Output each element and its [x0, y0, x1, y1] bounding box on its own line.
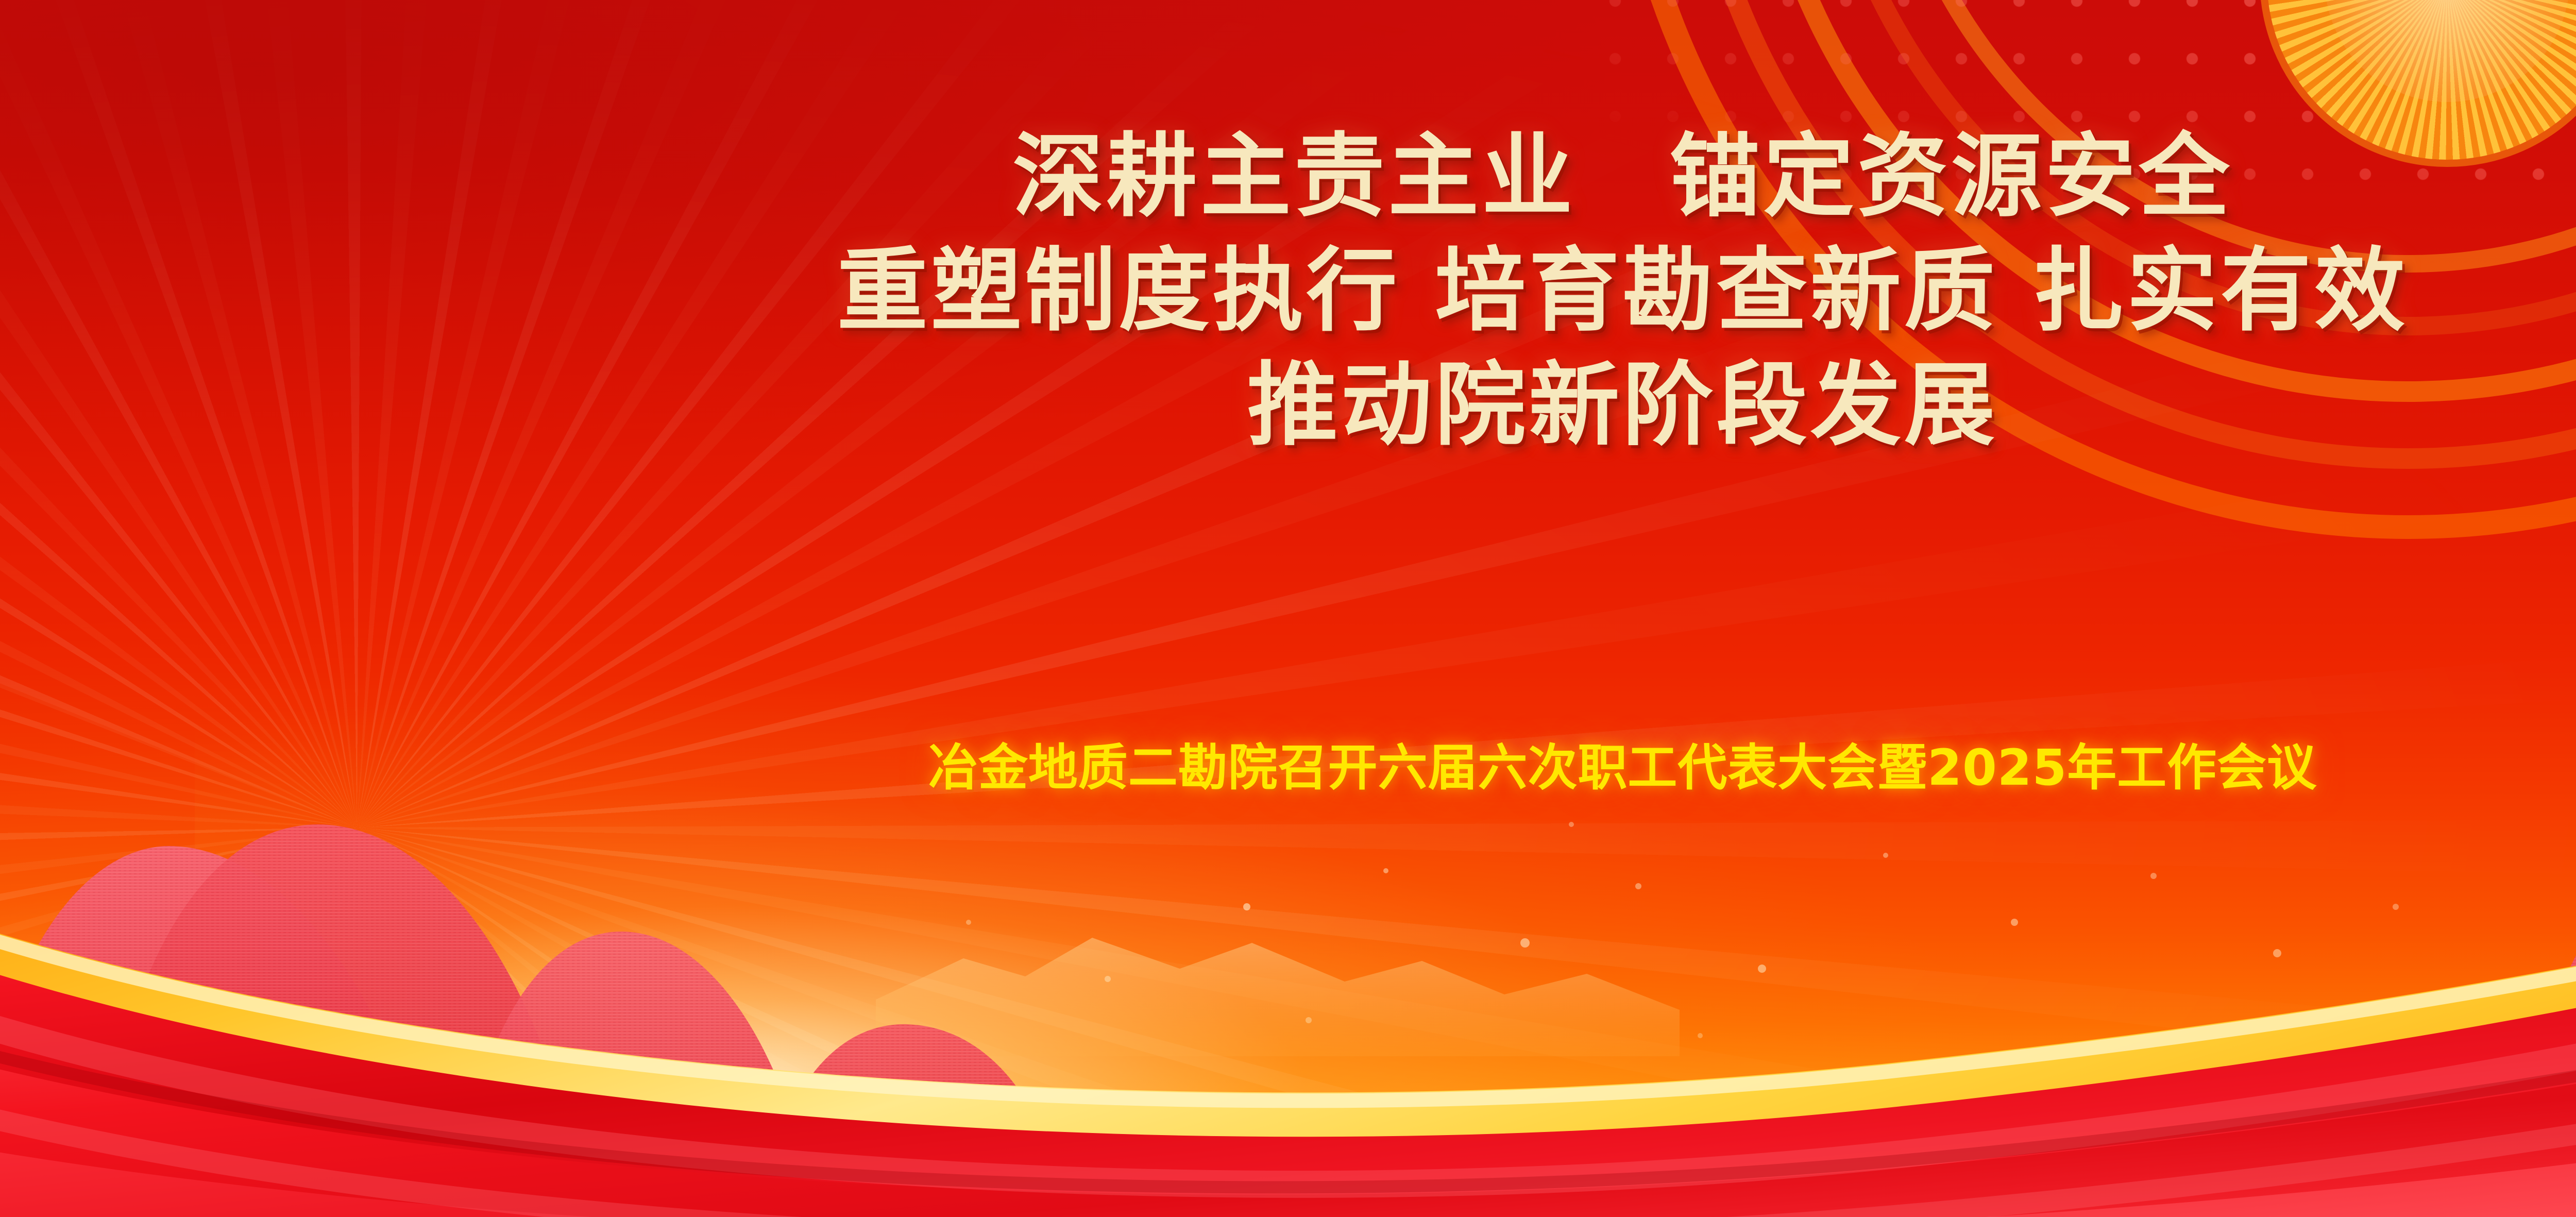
conference-banner: 深耕主责主业 锚定资源安全 重塑制度执行 培育勘查新质 扎实有效 推动院新阶段发… — [0, 0, 2576, 1217]
headline-line-2: 重塑制度执行 培育勘查新质 扎实有效 — [0, 246, 2576, 336]
headline-line-1: 深耕主责主业 锚定资源安全 — [0, 131, 2576, 222]
headline-line-3: 推动院新阶段发展 — [0, 360, 2576, 451]
headline-block: 深耕主责主业 锚定资源安全 重塑制度执行 培育勘查新质 扎实有效 推动院新阶段发… — [0, 131, 2576, 451]
inner-halo-glow — [195, 633, 2576, 1217]
light-halo-glow — [0, 487, 2576, 1217]
subtitle-text: 冶金地质二勘院召开六届六次职工代表大会暨2025年工作会议 — [0, 743, 2576, 792]
